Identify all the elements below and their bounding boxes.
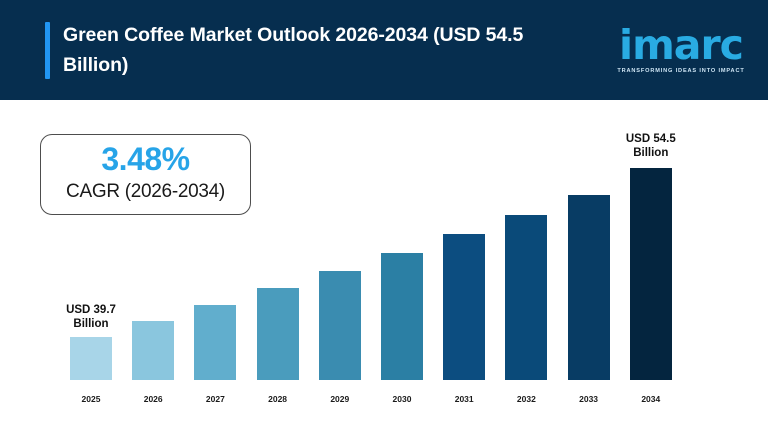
bar-2029 (319, 271, 361, 380)
x-axis-tick-2031: 2031 (443, 394, 485, 404)
bar-2032 (505, 215, 547, 380)
x-axis-tick-2027: 2027 (194, 394, 236, 404)
x-axis-tick-2026: 2026 (132, 394, 174, 404)
x-axis-tick-2029: 2029 (319, 394, 361, 404)
x-axis-tick-2028: 2028 (257, 394, 299, 404)
bar-2031 (443, 234, 485, 380)
bar-chart: 2025202620272028202920302031203220332034… (0, 0, 768, 432)
x-axis-tick-2030: 2030 (381, 394, 423, 404)
x-axis-tick-2033: 2033 (568, 394, 610, 404)
bar-2033 (568, 195, 610, 380)
x-axis-tick-2034: 2034 (630, 394, 672, 404)
start-value-label: USD 39.7 Billion (50, 303, 132, 331)
end-value-label: USD 54.5 Billion (606, 132, 696, 160)
x-axis-tick-2025: 2025 (70, 394, 112, 404)
bar-2034 (630, 168, 672, 380)
bar-2028 (257, 288, 299, 380)
x-axis-tick-2032: 2032 (505, 394, 547, 404)
bar-2026 (132, 321, 174, 380)
bar-2025 (70, 337, 112, 380)
infographic-root: Green Coffee Market Outlook 2026-2034 (U… (0, 0, 768, 432)
bar-2027 (194, 305, 236, 380)
bar-2030 (381, 253, 423, 381)
